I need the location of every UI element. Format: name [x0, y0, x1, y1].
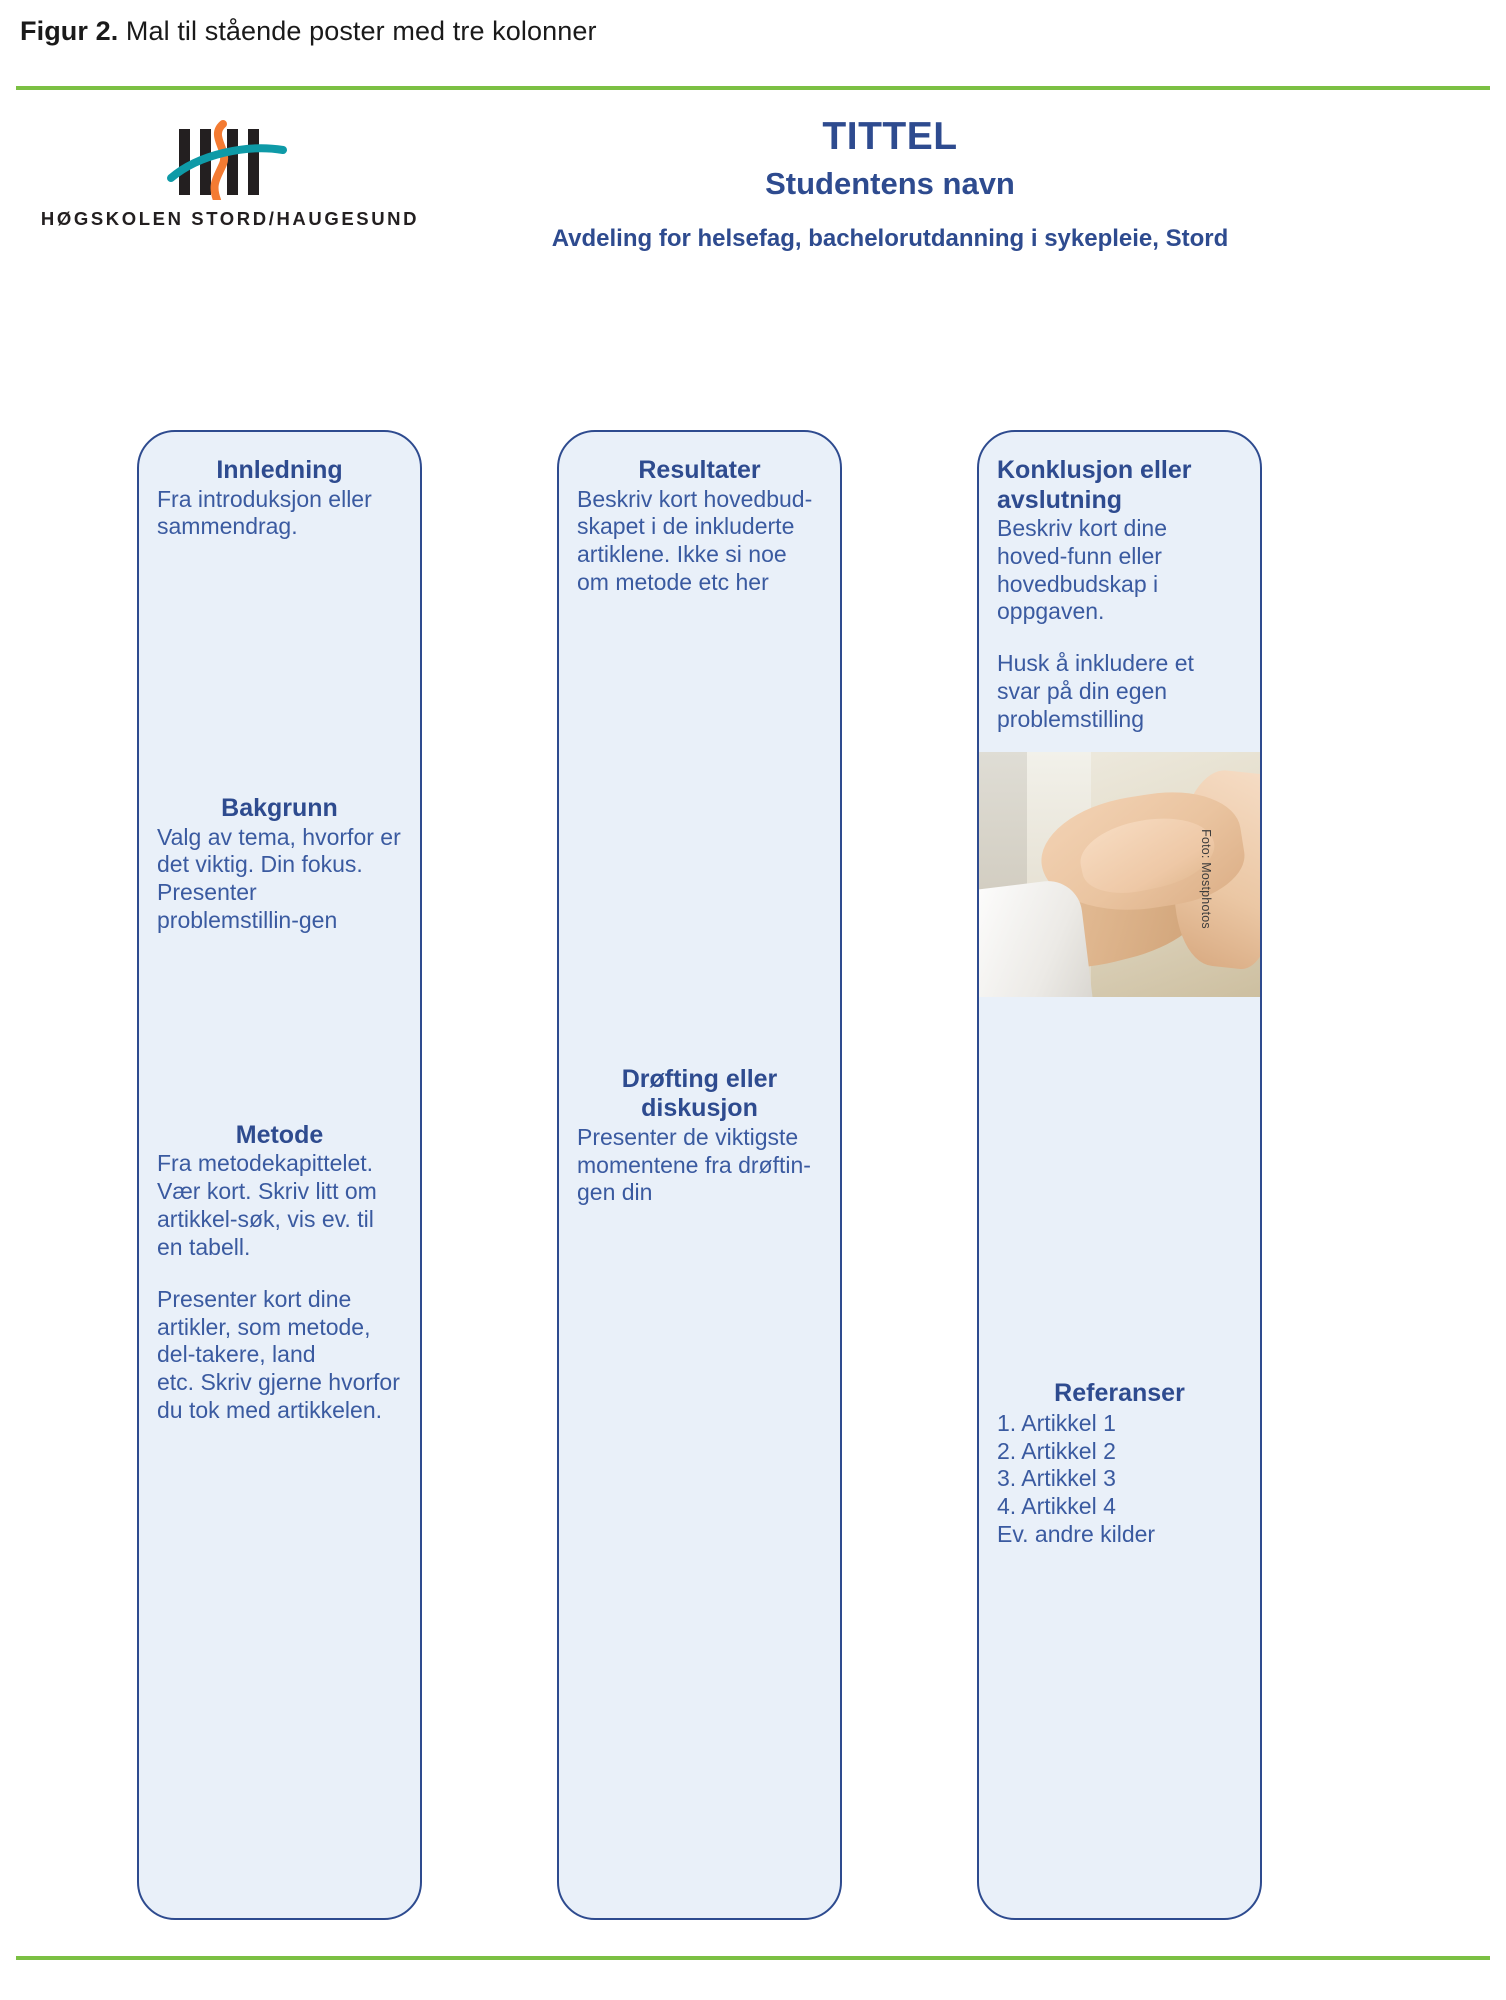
section-heading: Resultater [577, 456, 822, 486]
list-item: Ev. andre kilder [997, 1521, 1242, 1549]
photo-credit: Foto: Mostphotos [1199, 829, 1213, 929]
section-body: Beskriv kort dine hoved-funn eller hoved… [997, 515, 1242, 626]
poster-column-left: Innledning Fra introduksjon eller sammen… [137, 430, 422, 1920]
figure-caption: Figur 2. Mal til stående poster med tre … [20, 16, 597, 47]
section-heading: Innledning [157, 456, 402, 486]
section-referanser: Referanser 1. Artikkel 1 2. Artikkel 2 3… [979, 1379, 1260, 1549]
poster-column-right: Konklusjon eller avslutning Beskriv kort… [977, 430, 1262, 1920]
photo-sleeve [979, 877, 1093, 996]
poster-column-middle: Resultater Beskriv kort hovedbud-skapet … [557, 430, 842, 1920]
section-body: Fra metodekapittelet. Vær kort. Skriv li… [157, 1150, 402, 1261]
section-heading: Drøfting eller diskusjon [577, 1065, 822, 1124]
poster-header: HØGSKOLEN STORD/HAUGESUND TITTEL Student… [0, 110, 1506, 310]
list-item: 3. Artikkel 3 [997, 1465, 1242, 1493]
spacer [559, 597, 840, 1065]
section-body: Husk å inkludere et svar på din egen pro… [997, 650, 1242, 733]
section-body: Presenter de viktigste momentene fra drø… [577, 1124, 822, 1207]
section-innledning: Innledning Fra introduksjon eller sammen… [139, 432, 420, 541]
spacer [139, 935, 420, 1121]
list-item: 4. Artikkel 4 [997, 1493, 1242, 1521]
poster-title: TITTEL [360, 116, 1420, 159]
section-metode: Metode Fra metodekapittelet. Vær kort. S… [139, 1121, 420, 1425]
spacer [139, 541, 420, 794]
references-heading: Referanser [997, 1379, 1242, 1408]
section-body: Presenter kort dine artikler, som metode… [157, 1286, 402, 1425]
poster-title-block: TITTEL Studentens navn Avdeling for hels… [360, 116, 1420, 253]
bottom-divider-rule [16, 1956, 1490, 1960]
figure-caption-text: Mal til stående poster med tre kolonner [118, 16, 596, 46]
section-konklusjon: Konklusjon eller avslutning Beskriv kort… [979, 432, 1260, 734]
hsh-logo-icon [165, 120, 295, 200]
poster-author: Studentens navn [360, 167, 1420, 201]
section-heading: Konklusjon eller avslutning [997, 456, 1242, 515]
list-item: 2. Artikkel 2 [997, 1438, 1242, 1466]
section-resultater: Resultater Beskriv kort hovedbud-skapet … [559, 432, 840, 597]
top-divider-rule [16, 86, 1490, 90]
list-item: 1. Artikkel 1 [997, 1410, 1242, 1438]
section-heading: Bakgrunn [157, 794, 402, 824]
poster-columns: Innledning Fra introduksjon eller sammen… [0, 430, 1506, 1930]
figure-label: Figur 2. [20, 16, 118, 46]
holding-hands-photo: Foto: Mostphotos [979, 752, 1260, 997]
spacer [979, 997, 1260, 1379]
section-bakgrunn: Bakgrunn Valg av tema, hvorfor er det vi… [139, 794, 420, 935]
section-heading: Metode [157, 1121, 402, 1151]
section-drofting: Drøfting eller diskusjon Presenter de vi… [559, 1065, 840, 1207]
references-list: 1. Artikkel 1 2. Artikkel 2 3. Artikkel … [997, 1410, 1242, 1549]
section-body: Beskriv kort hovedbud-skapet i de inklud… [577, 486, 822, 597]
section-body: Valg av tema, hvorfor er det viktig. Din… [157, 824, 402, 935]
section-body: Fra introduksjon eller sammendrag. [157, 486, 402, 542]
poster-department: Avdeling for helsefag, bachelorutdanning… [360, 225, 1420, 253]
